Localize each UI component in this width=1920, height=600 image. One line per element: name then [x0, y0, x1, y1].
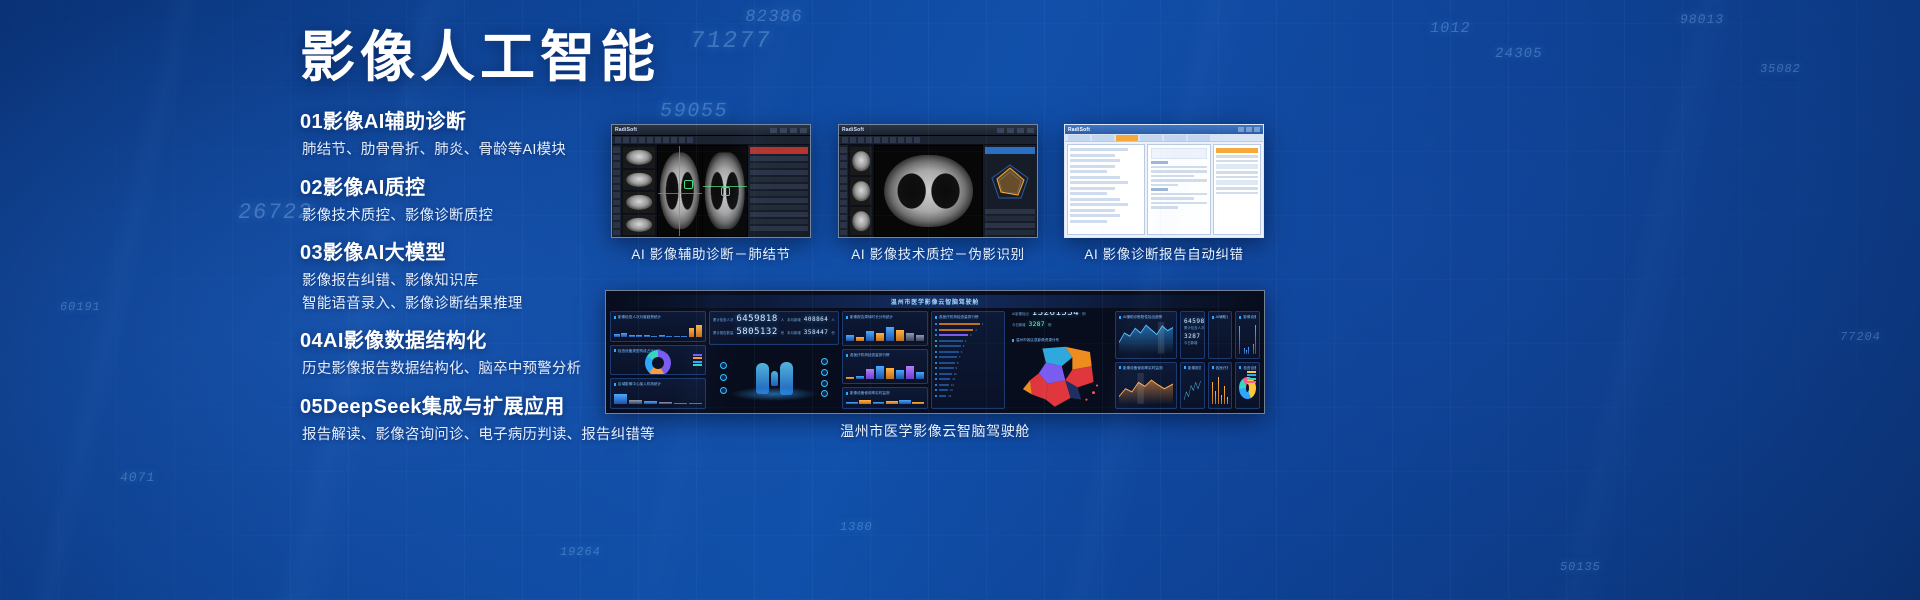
feature-label: 影像AI辅助诊断	[323, 111, 466, 133]
feature-description: 肺结节、肋骨骨折、肺炎、骨龄等AI模块	[300, 139, 720, 161]
feature-number: 01	[300, 111, 323, 133]
feature-desc-line: 影像技术质控、影像诊断质控	[302, 205, 720, 227]
feature-title: 05DeepSeek集成与扩展应用	[300, 394, 720, 421]
feature-desc-line: 肺结节、肋骨骨折、肺炎、骨龄等AI模块	[302, 139, 720, 161]
feature-desc-line: 历史影像报告数据结构化、脑卒中预警分析	[302, 358, 720, 380]
feature-item-01: 01影像AI辅助诊断 肺结节、肋骨骨折、肺炎、骨龄等AI模块	[300, 109, 720, 161]
feature-description: 报告解读、影像咨询问诊、电子病历判读、报告纠错等	[300, 424, 720, 446]
feature-description: 历史影像报告数据结构化、脑卒中预警分析	[300, 358, 720, 380]
feature-number: 05	[300, 396, 323, 418]
feature-desc-line: 报告解读、影像咨询问诊、电子病历判读、报告纠错等	[302, 424, 720, 446]
feature-label: AI影像数据结构化	[323, 330, 487, 352]
feature-description: 影像报告纠错、影像知识库 智能语音录入、影像诊断结果推理	[300, 270, 720, 315]
feature-item-05: 05DeepSeek集成与扩展应用 报告解读、影像咨询问诊、电子病历判读、报告纠…	[300, 394, 720, 446]
feature-title: 01影像AI辅助诊断	[300, 109, 720, 136]
feature-desc-line: 影像报告纠错、影像知识库	[302, 270, 720, 292]
feature-title: 03影像AI大模型	[300, 240, 720, 267]
feature-item-04: 04AI影像数据结构化 历史影像报告数据结构化、脑卒中预警分析	[300, 328, 720, 380]
feature-title: 04AI影像数据结构化	[300, 328, 720, 355]
feature-label: 影像AI质控	[323, 177, 425, 199]
feature-list-panel: 影像人工智能 01影像AI辅助诊断 肺结节、肋骨骨折、肺炎、骨龄等AI模块 02…	[300, 28, 720, 459]
page-title: 影像人工智能	[300, 28, 720, 87]
feature-label: DeepSeek集成与扩展应用	[323, 396, 565, 418]
feature-number: 04	[300, 330, 323, 352]
background-streaks	[0, 0, 1920, 600]
feature-label: 影像AI大模型	[323, 242, 446, 264]
feature-desc-line: 智能语音录入、影像诊断结果推理	[302, 293, 720, 315]
feature-item-03: 03影像AI大模型 影像报告纠错、影像知识库 智能语音录入、影像诊断结果推理	[300, 240, 720, 315]
feature-number: 03	[300, 242, 323, 264]
feature-item-02: 02影像AI质控 影像技术质控、影像诊断质控	[300, 175, 720, 227]
feature-description: 影像技术质控、影像诊断质控	[300, 205, 720, 227]
feature-number: 02	[300, 177, 323, 199]
feature-title: 02影像AI质控	[300, 175, 720, 202]
